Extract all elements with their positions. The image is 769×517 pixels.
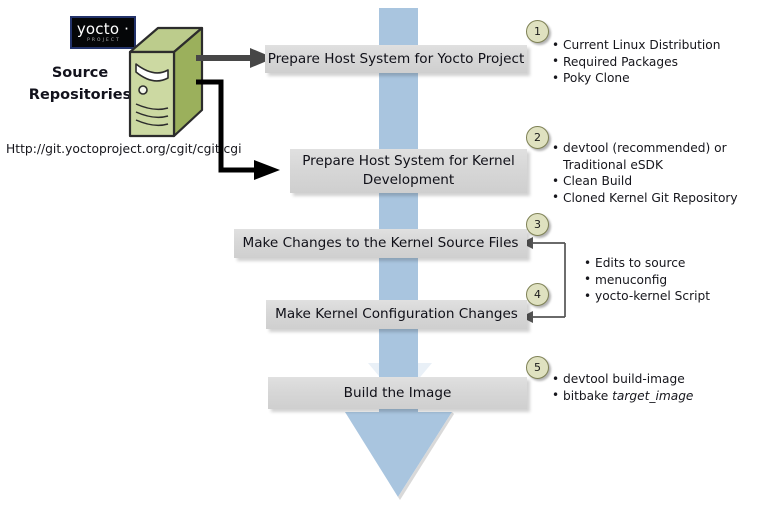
- list-item: Required Packages: [552, 54, 752, 71]
- bitbake-command-prefix: bitbake: [563, 389, 612, 403]
- step-number-badge-3: 3: [526, 213, 549, 236]
- bullet-list-step-2: devtool (recommended) or Traditional eSD…: [552, 140, 752, 206]
- step-number: 1: [534, 25, 541, 38]
- process-box-step-2[interactable]: Prepare Host System for Kernel Developme…: [290, 149, 527, 193]
- list-item: Cloned Kernel Git Repository: [552, 190, 752, 207]
- process-box-label: Make Kernel Configuration Changes: [275, 305, 518, 324]
- step-number: 2: [534, 131, 541, 144]
- server-tower-icon: [128, 26, 204, 138]
- list-item: Clean Build: [552, 173, 752, 190]
- logo-subtext: PROJECT: [87, 38, 121, 44]
- step-number: 4: [534, 288, 541, 301]
- diagram-canvas: yocto · PROJECT Source Repositories Http…: [0, 0, 769, 517]
- bullet-list-step-5: devtool build-image bitbake target_image: [552, 371, 752, 404]
- process-box-label: Build the Image: [344, 384, 452, 403]
- source-repositories-label: Source Repositories: [22, 62, 138, 106]
- process-box-label: Prepare Host System for Yocto Project: [268, 50, 525, 69]
- step-number: 3: [534, 218, 541, 231]
- list-item: devtool build-image: [552, 371, 752, 388]
- source-label-line1: Source: [22, 62, 138, 84]
- bullet-list-steps-3-4: Edits to source menuconfig yocto-kernel …: [584, 255, 754, 305]
- list-item: devtool (recommended) or Traditional eSD…: [552, 140, 752, 173]
- step-number-badge-2: 2: [526, 126, 549, 149]
- list-item: menuconfig: [584, 272, 754, 289]
- list-item: Edits to source: [584, 255, 754, 272]
- list-item: Current Linux Distribution: [552, 37, 752, 54]
- bullet-list-step-1: Current Linux Distribution Required Pack…: [552, 37, 752, 87]
- process-box-label: Prepare Host System for Kernel Developme…: [290, 152, 527, 190]
- step-number-badge-5: 5: [526, 356, 549, 379]
- step-number-badge-1: 1: [526, 20, 549, 43]
- process-box-step-4[interactable]: Make Kernel Configuration Changes: [266, 300, 527, 329]
- list-item: bitbake target_image: [552, 388, 752, 405]
- process-box-step-1[interactable]: Prepare Host System for Yocto Project: [265, 45, 527, 73]
- list-item: Poky Clone: [552, 70, 752, 87]
- logo-wordmark: yocto ·: [77, 22, 129, 37]
- process-box-step-5[interactable]: Build the Image: [268, 377, 527, 409]
- source-label-line2: Repositories: [22, 84, 138, 106]
- connector-server-to-step2: [196, 72, 286, 182]
- yocto-project-logo: yocto · PROJECT: [70, 16, 136, 49]
- connector-server-to-step1: [196, 44, 276, 72]
- list-item: yocto-kernel Script: [584, 288, 754, 305]
- bitbake-target-argument: target_image: [612, 389, 693, 403]
- process-box-label: Make Changes to the Kernel Source Files: [242, 234, 518, 253]
- process-box-step-3[interactable]: Make Changes to the Kernel Source Files: [234, 229, 527, 258]
- connector-bracket-steps-3-4: [520, 235, 580, 325]
- step-number-badge-4: 4: [526, 283, 549, 306]
- step-number: 5: [534, 361, 541, 374]
